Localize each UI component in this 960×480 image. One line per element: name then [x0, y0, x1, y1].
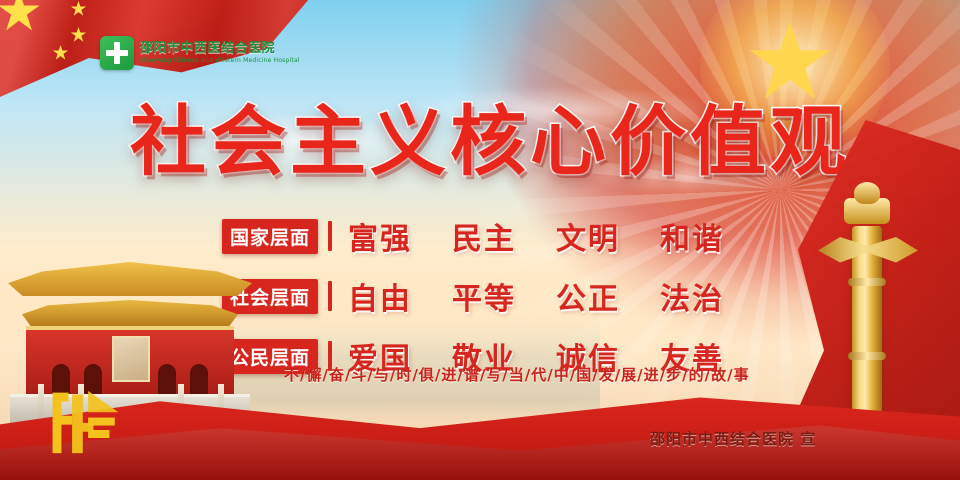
- poster-canvas: 邵阳市中西医结合医院 Shaoyang Chinese and Western …: [0, 0, 960, 480]
- value-word: 法治: [660, 274, 724, 318]
- hospital-name-en: Shaoyang Chinese and Western Medicine Ho…: [140, 58, 300, 64]
- value-word: 文明: [556, 214, 620, 258]
- values-divider-national: [328, 221, 332, 251]
- flag-star-small-3-icon: [70, 26, 87, 47]
- values-tag-national: 国家层面: [222, 219, 318, 254]
- medical-cross-icon: [100, 36, 134, 70]
- flag-star-small-4-icon: [52, 44, 69, 65]
- hospital-logo: 邵阳市中西医结合医院 Shaoyang Chinese and Western …: [100, 36, 300, 70]
- hospital-name-cn: 邵阳市中西医结合医院: [140, 42, 300, 55]
- huabiao-column: [818, 182, 914, 432]
- huabiao-ring: [848, 352, 886, 360]
- flag-star-small-2-icon: [70, 0, 87, 21]
- tiananmen-portrait: [112, 336, 150, 382]
- tiananmen-upper-roof: [8, 262, 252, 296]
- value-word: 平等: [452, 274, 516, 318]
- values-words-national: 富强 民主 文明 和谐: [348, 214, 724, 258]
- poster-signature: 邵阳市中西结合医院 宣: [650, 428, 816, 449]
- huabiao-beast-top-icon: [854, 182, 880, 204]
- value-word: 和谐: [660, 214, 724, 258]
- value-word: 自由: [348, 274, 412, 318]
- hospital-logo-text: 邵阳市中西医结合医院 Shaoyang Chinese and Western …: [140, 42, 300, 64]
- flag-star-large-icon: [0, 0, 42, 38]
- values-row-national: 国家层面 富强 民主 文明 和谐: [222, 214, 782, 258]
- value-word: 民主: [452, 214, 516, 258]
- values-words-social: 自由 平等 公正 法治: [348, 274, 724, 318]
- values-divider-social: [328, 281, 332, 311]
- huabiao-ring: [848, 278, 886, 286]
- core-values-table: 国家层面 富强 民主 文明 和谐 社会层面 自由 平等 公正 法治 公民层面: [222, 214, 782, 378]
- value-word: 公正: [556, 274, 620, 318]
- tiananmen-gate-arch: [158, 364, 176, 394]
- poster-slogan: 不/懈/奋/斗/与/时/俱/进/谱/写/当/代/中/国/发/展/进/步/的/故/…: [284, 364, 750, 385]
- tiananmen-gate-arch: [190, 364, 208, 394]
- tiananmen-lower-roof: [22, 300, 238, 326]
- party-emblem-icon: [36, 382, 126, 462]
- poster-title: 社会主义核心价值观: [110, 104, 870, 180]
- flag-star-small-1-icon: [52, 0, 69, 3]
- value-word: 富强: [348, 214, 412, 258]
- values-row-social: 社会层面 自由 平等 公正 法治: [222, 274, 782, 318]
